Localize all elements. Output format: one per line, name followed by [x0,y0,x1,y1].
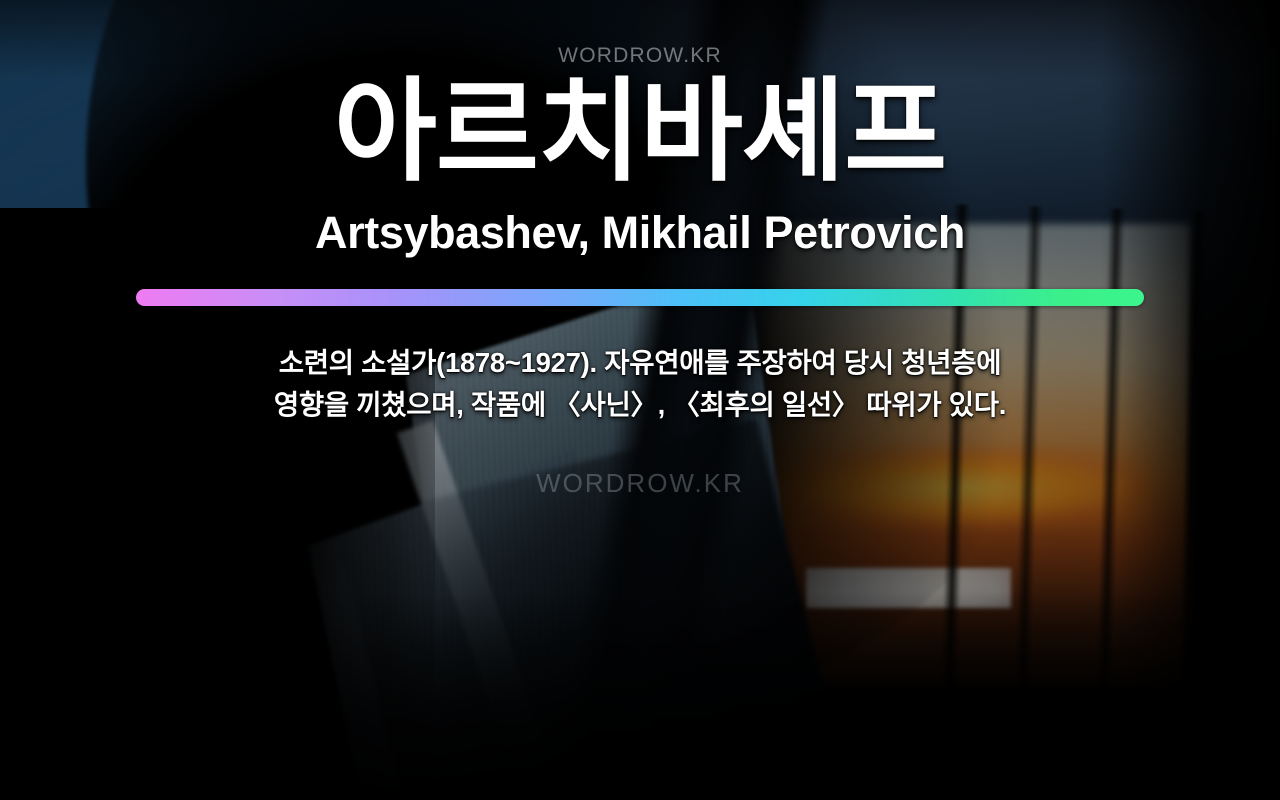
headword-title: 아르치바셰프 [334,74,946,190]
romanization-subtitle: Artsybashev, Mikhail Petrovich [315,208,965,258]
definition-text: 소련의 소설가(1878~1927). 자유연애를 주장하여 당시 청년층에 영… [150,342,1130,426]
card-content: 아르치바셰프 Artsybashev, Mikhail Petrovich 소련… [0,0,1280,800]
gradient-divider [136,289,1144,306]
definition-line-1: 소련의 소설가(1878~1927). 자유연애를 주장하여 당시 청년층에 [279,347,1001,378]
definition-line-2: 영향을 끼쳤으며, 작품에 〈사닌〉, 〈최후의 일선〉 따위가 있다. [274,389,1006,420]
word-definition-card: WORDROW.KR WORDROW.KR 아르치바셰프 Artsybashev… [0,0,1280,800]
